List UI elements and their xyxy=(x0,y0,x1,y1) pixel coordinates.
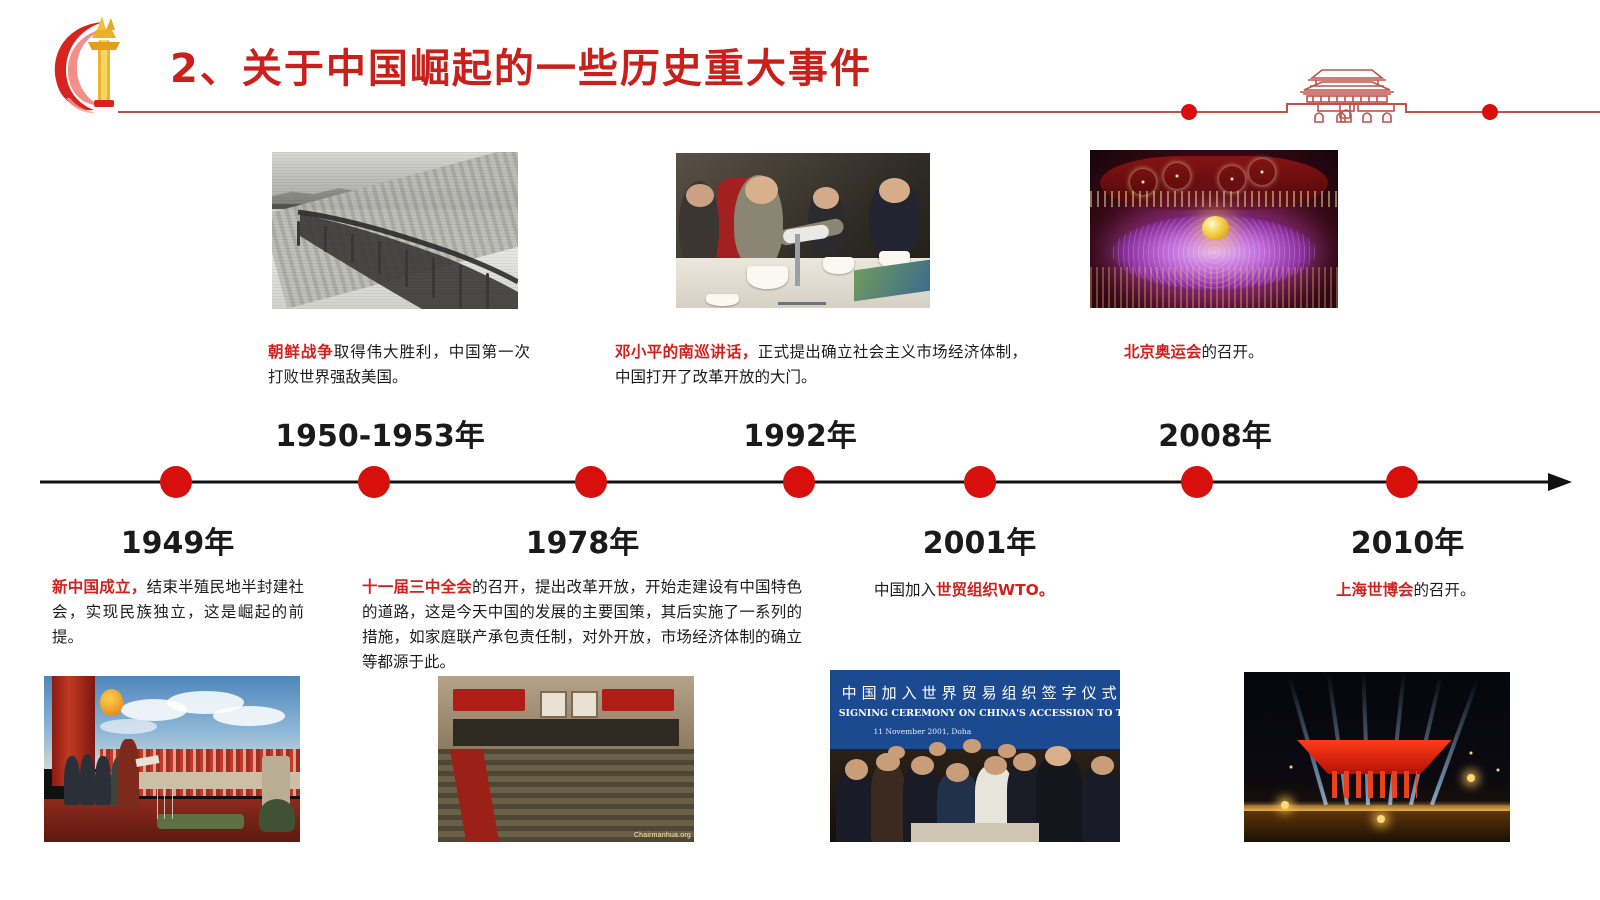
header-dot-right xyxy=(1482,104,1498,120)
timeline-dot-1950 xyxy=(358,466,390,498)
timeline-dot-1978 xyxy=(575,466,607,498)
right-arrow-icon xyxy=(1548,473,1572,491)
event-highlight-2010: 上海世博会 xyxy=(1336,581,1414,599)
photo-wto-signing-ceremony: 中国加入世界贸易组织签字仪式 SIGNING CEREMONY ON CHINA… xyxy=(830,670,1120,842)
event-text-1978: 十一届三中全会的召开，提出改革开放，开始走建设有中国特色的道路，这是今天中国的发… xyxy=(362,575,802,675)
year-label-1992: 1992年 xyxy=(680,411,920,455)
photo-deng-xiaoping-southern-tour xyxy=(676,153,930,308)
event-highlight-2001: 世贸组织WTO。 xyxy=(936,581,1054,599)
header-dot-left xyxy=(1181,104,1197,120)
wto-banner-english: SIGNING CEREMONY ON CHINA'S ACCESSION TO… xyxy=(839,708,1117,719)
timeline-dot-2001 xyxy=(964,466,996,498)
wto-banner-chinese: 中国加入世界贸易组织签字仪式 xyxy=(842,682,1115,703)
event-body-2010: 的召开。 xyxy=(1414,581,1476,599)
year-label-2010: 2010年 xyxy=(1290,518,1525,562)
year-label-1978: 1978年 xyxy=(465,518,700,562)
event-text-1949: 新中国成立，结束半殖民地半封建社会，实现民族独立，这是崛起的前提。 xyxy=(52,575,304,650)
tiananmen-gate-outline-icon xyxy=(1300,70,1394,122)
timeline-dot-2010 xyxy=(1386,466,1418,498)
year-label-2001: 2001年 xyxy=(862,518,1097,562)
photo-korean-war xyxy=(272,152,518,309)
slide-canvas: 2、关于中国崛起的一些历史重大事件 xyxy=(0,0,1600,900)
event-highlight-1949: 新中国成立， xyxy=(52,578,147,596)
event-lead-2001: 中国加入 xyxy=(874,581,936,599)
event-text-1992: 邓小平的南巡讲话，正式提出确立社会主义市场经济体制，中国打开了改革开放的大门。 xyxy=(615,340,1027,390)
event-body-2008: 的召开。 xyxy=(1202,343,1264,361)
photo-shanghai-expo-night xyxy=(1244,672,1510,842)
wto-banner-date: 11 November 2001, Doha xyxy=(874,727,972,736)
timeline-dot-1949 xyxy=(160,466,192,498)
year-label-1949: 1949年 xyxy=(60,518,295,562)
event-text-2001: 中国加入世贸组织WTO。 xyxy=(874,578,1164,603)
event-highlight-2008: 北京奥运会 xyxy=(1124,343,1202,361)
event-highlight-1978: 十一届三中全会 xyxy=(362,578,472,596)
event-highlight-1950: 朝鲜战争 xyxy=(268,343,334,361)
event-text-1950: 朝鲜战争取得伟大胜利，中国第一次打败世界强敌美国。 xyxy=(268,340,530,390)
year-label-1950-1953: 1950-1953年 xyxy=(250,411,510,455)
timeline-dot-1992 xyxy=(783,466,815,498)
header-rule-with-gate-decoration xyxy=(0,60,1600,130)
photo-third-plenary-session: Chairmanhua.org xyxy=(438,676,694,842)
year-label-2008: 2008年 xyxy=(1095,411,1335,455)
event-text-2008: 北京奥运会的召开。 xyxy=(1124,340,1404,365)
slide-header: 2、关于中国崛起的一些历史重大事件 xyxy=(0,0,1600,140)
event-highlight-1992: 邓小平的南巡讲话， xyxy=(615,343,758,361)
timeline-dot-2008 xyxy=(1181,466,1213,498)
timeline-axis xyxy=(0,455,1600,510)
event-text-2010: 上海世博会的召开。 xyxy=(1336,578,1586,603)
photo-founding-of-prc xyxy=(44,676,300,842)
photo-beijing-olympics-opening xyxy=(1090,150,1338,308)
photo-credit-label: Chairmanhua.org xyxy=(634,832,691,839)
